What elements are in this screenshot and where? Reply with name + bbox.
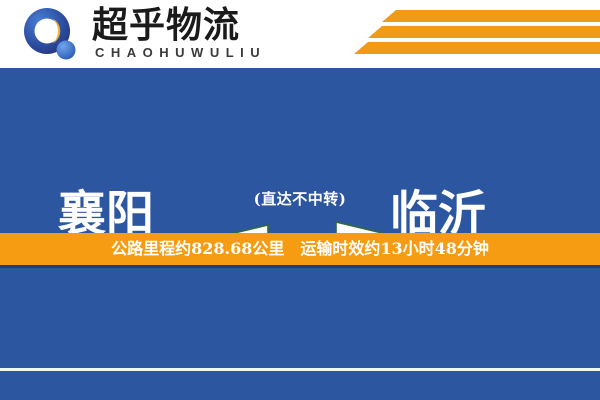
chaohu-q-logo-icon xyxy=(22,7,78,63)
banner-header: 超乎物流 CHAOHUWULIU xyxy=(0,0,600,68)
header-stripe-3 xyxy=(354,42,600,54)
logistics-route-banner: 超乎物流 CHAOHUWULIU 襄阳 (直达不中转) 【往返运输】 临沂 公路… xyxy=(0,0,600,400)
direct-shipping-note: (直达不中转) xyxy=(0,188,600,209)
header-stripe-2 xyxy=(368,26,600,38)
brand-latin-name: CHAOHUWULIU xyxy=(95,45,266,60)
distance-duration-bar: 公路里程约828.68公里 运输时效约13小时48分钟 xyxy=(0,233,600,265)
brand-name: 超乎物流 xyxy=(92,5,240,45)
distance-duration-text: 公路里程约828.68公里 运输时效约13小时48分钟 xyxy=(0,233,600,265)
route-panel: 襄阳 (直达不中转) 【往返运输】 临沂 xyxy=(0,68,600,233)
coverage-area-panel: 兰山区、罗庄区、河东区、沂南县、郯城县、沂水县、 兰陵县、费县、平邑县、莒南县、… xyxy=(0,268,600,400)
road-line xyxy=(0,368,600,371)
header-stripe-1 xyxy=(382,10,600,22)
